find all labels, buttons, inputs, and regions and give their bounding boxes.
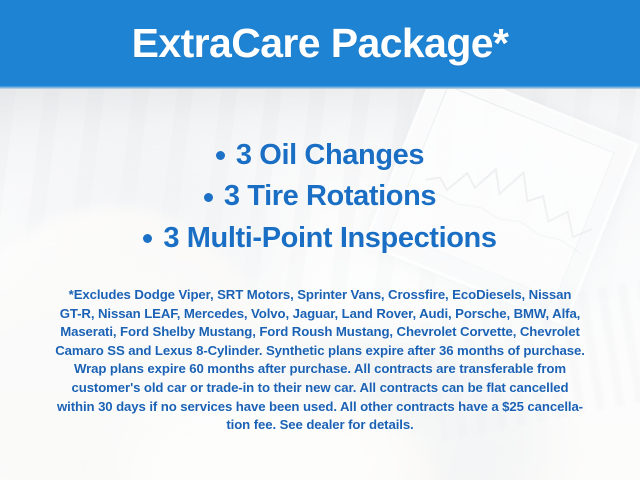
bullet-dot-icon: [143, 234, 152, 243]
disclaimer-line: within 30 days if no services have been …: [28, 398, 612, 417]
disclaimer-line: Camaro SS and Lexus 8-Cylinder. Syntheti…: [28, 342, 612, 361]
disclaimer-text: *Excludes Dodge Viper, SRT Motors, Sprin…: [28, 286, 612, 435]
disclaimer-line: tion fee. See dealer for details.: [28, 416, 612, 435]
disclaimer-line: Wrap plans expire 60 months after purcha…: [28, 360, 612, 379]
extracare-promo-card: ExtraCare Package* 3 Oil Changes 3 Tire …: [0, 0, 640, 480]
benefits-list: 3 Oil Changes 3 Tire Rotations 3 Multi-P…: [0, 138, 640, 262]
list-item: 3 Tire Rotations: [0, 179, 640, 214]
list-item: 3 Multi-Point Inspections: [0, 221, 640, 256]
disclaimer-line: Maserati, Ford Shelby Mustang, Ford Rous…: [28, 323, 612, 342]
disclaimer-line: *Excludes Dodge Viper, SRT Motors, Sprin…: [28, 286, 612, 305]
benefit-label: 3 Tire Rotations: [224, 179, 436, 214]
disclaimer-line: GT-R, Nissan LEAF, Mercedes, Volvo, Jagu…: [28, 305, 612, 324]
list-item: 3 Oil Changes: [0, 138, 640, 173]
benefit-label: 3 Multi-Point Inspections: [163, 221, 496, 256]
bullet-dot-icon: [204, 193, 213, 202]
header-banner: ExtraCare Package*: [0, 0, 640, 86]
banner-underline-divider: [0, 86, 640, 89]
bullet-dot-icon: [216, 151, 225, 160]
benefit-label: 3 Oil Changes: [236, 138, 424, 173]
disclaimer-line: customer's old car or trade-in to their …: [28, 379, 612, 398]
page-title: ExtraCare Package*: [132, 23, 509, 64]
